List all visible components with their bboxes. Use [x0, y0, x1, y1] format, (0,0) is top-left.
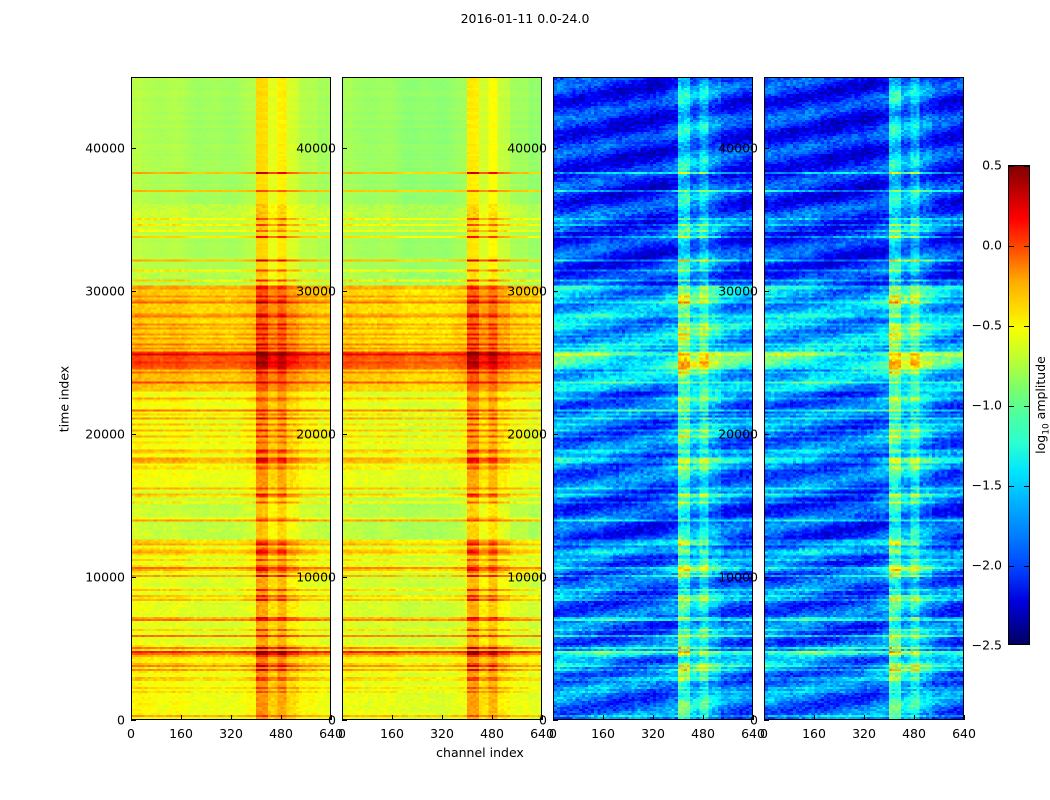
colorbar-gradient [1009, 166, 1029, 644]
y-tick-mark [131, 720, 136, 721]
y-tick-mark [342, 291, 347, 292]
y-tick-label-40000: 40000 [266, 141, 336, 156]
x-tick-label-0: 0 [338, 726, 346, 741]
y-tick-mark [553, 720, 558, 721]
colorbar-tick-label-4: −0.5 [946, 318, 1002, 333]
y-tick-label-0: 0 [688, 713, 758, 728]
colorbar-tick-mark [1024, 566, 1029, 567]
colorbar-tick-mark [1024, 406, 1029, 407]
y-tick-mark [342, 577, 347, 578]
x-tick-label-320: 320 [219, 726, 243, 741]
y-tick-label-20000: 20000 [688, 427, 758, 442]
y-tick-mark [764, 720, 769, 721]
heatmap-panel-xx[interactable]: XX, ant V4 [131, 77, 331, 720]
x-tick-label-480: 480 [691, 726, 715, 741]
colorbar-title-tail: amplitude [1033, 356, 1048, 423]
x-tick-mark [231, 715, 232, 720]
x-tick-label-640: 640 [952, 726, 976, 741]
x-tick-label-160: 160 [380, 726, 404, 741]
x-tick-mark [864, 715, 865, 720]
colorbar[interactable] [1008, 165, 1030, 645]
colorbar-tick-mark [1009, 566, 1014, 567]
colorbar-title: log10 amplitude [1033, 356, 1050, 454]
x-tick-label-320: 320 [641, 726, 665, 741]
x-tick-mark [964, 715, 965, 720]
x-tick-label-480: 480 [269, 726, 293, 741]
x-tick-mark [442, 715, 443, 720]
heatmap-panel-xy[interactable]: XY, ant V4 [553, 77, 753, 720]
x-tick-label-0: 0 [760, 726, 768, 741]
colorbar-tick-label-2: −1.5 [946, 478, 1002, 493]
y-tick-label-30000: 30000 [55, 284, 125, 299]
y-tick-mark [553, 291, 558, 292]
colorbar-tick-label-5: 0.0 [946, 238, 1002, 253]
figure-canvas: 2016-01-11 0.0-24.0 XX, ant V4 YY, ant V… [0, 0, 1050, 800]
y-tick-label-30000: 30000 [266, 284, 336, 299]
heatmap-image-xy [554, 78, 752, 719]
x-tick-label-160: 160 [802, 726, 826, 741]
y-tick-label-0: 0 [477, 713, 547, 728]
x-tick-label-0: 0 [127, 726, 135, 741]
y-tick-label-0: 0 [55, 713, 125, 728]
colorbar-tick-mark [1009, 406, 1014, 407]
y-tick-label-40000: 40000 [55, 141, 125, 156]
x-tick-label-320: 320 [430, 726, 454, 741]
y-tick-label-10000: 10000 [55, 570, 125, 585]
x-tick-mark [764, 715, 765, 720]
x-tick-label-160: 160 [169, 726, 193, 741]
x-axis-label: channel index [436, 745, 524, 760]
y-tick-mark [764, 148, 769, 149]
x-tick-mark [131, 715, 132, 720]
y-tick-mark [342, 148, 347, 149]
colorbar-tick-mark [1024, 166, 1029, 167]
colorbar-tick-label-3: −1.0 [946, 398, 1002, 413]
heatmap-panel-yx[interactable]: YX, ant V4 [764, 77, 964, 720]
heatmap-panel-yy[interactable]: YY, ant V4 [342, 77, 542, 720]
colorbar-tick-label-1: −2.0 [946, 558, 1002, 573]
x-tick-mark [342, 715, 343, 720]
y-tick-label-30000: 30000 [688, 284, 758, 299]
x-tick-mark [653, 715, 654, 720]
y-tick-mark [131, 434, 136, 435]
x-tick-mark [814, 715, 815, 720]
y-tick-mark [131, 291, 136, 292]
colorbar-tick-label-6: 0.5 [946, 158, 1002, 173]
heatmap-image-yx [765, 78, 963, 719]
y-tick-label-0: 0 [266, 713, 336, 728]
y-tick-mark [342, 434, 347, 435]
colorbar-title-text: log [1033, 435, 1048, 454]
x-tick-label-160: 160 [591, 726, 615, 741]
colorbar-tick-mark [1009, 486, 1014, 487]
y-tick-mark [553, 577, 558, 578]
colorbar-tick-mark [1009, 166, 1014, 167]
y-tick-label-10000: 10000 [688, 570, 758, 585]
colorbar-tick-mark [1024, 486, 1029, 487]
x-tick-mark [553, 715, 554, 720]
x-tick-mark [914, 715, 915, 720]
y-tick-mark [764, 291, 769, 292]
x-tick-mark [181, 715, 182, 720]
colorbar-tick-label-0: −2.5 [946, 638, 1002, 653]
x-tick-mark [603, 715, 604, 720]
colorbar-title-sub: 10 [1041, 423, 1050, 434]
y-tick-label-40000: 40000 [688, 141, 758, 156]
y-tick-mark [131, 148, 136, 149]
colorbar-tick-mark [1009, 326, 1014, 327]
heatmap-image-xx [132, 78, 330, 719]
y-tick-label-10000: 10000 [477, 570, 547, 585]
x-tick-label-480: 480 [902, 726, 926, 741]
x-tick-mark [392, 715, 393, 720]
x-tick-label-0: 0 [549, 726, 557, 741]
y-tick-label-30000: 30000 [477, 284, 547, 299]
y-tick-mark [764, 434, 769, 435]
figure-suptitle: 2016-01-11 0.0-24.0 [0, 11, 1050, 26]
y-tick-mark [764, 577, 769, 578]
x-tick-label-480: 480 [480, 726, 504, 741]
x-tick-label-320: 320 [852, 726, 876, 741]
colorbar-tick-mark [1009, 246, 1014, 247]
y-tick-mark [342, 720, 347, 721]
y-tick-mark [553, 148, 558, 149]
y-tick-label-20000: 20000 [266, 427, 336, 442]
y-axis-label: time index [57, 366, 72, 432]
y-tick-label-10000: 10000 [266, 570, 336, 585]
y-tick-label-20000: 20000 [477, 427, 547, 442]
colorbar-tick-mark [1024, 246, 1029, 247]
colorbar-tick-mark [1024, 326, 1029, 327]
y-tick-label-40000: 40000 [477, 141, 547, 156]
y-tick-mark [553, 434, 558, 435]
heatmap-image-yy [343, 78, 541, 719]
y-tick-mark [131, 577, 136, 578]
